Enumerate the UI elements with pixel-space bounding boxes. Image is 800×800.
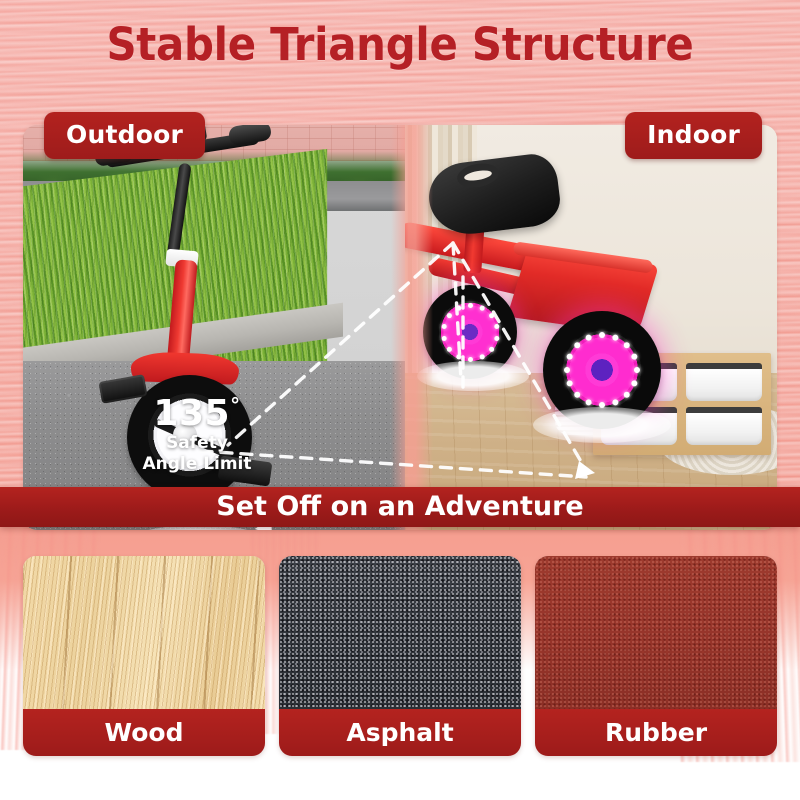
indoor-scene (405, 125, 777, 530)
tricycle-seat (425, 151, 563, 238)
surface-label: Wood (23, 709, 265, 756)
page-title: Stable Triangle Structure (28, 16, 772, 76)
tricycle-indoor (405, 125, 777, 530)
scene-divider (391, 125, 433, 530)
angle-subtitle-line2: Angle Limit (122, 454, 272, 475)
angle-subtitle-line1: Safety (122, 433, 272, 454)
surface-label: Asphalt (279, 709, 521, 756)
angle-value: 135° (122, 386, 272, 433)
angle-number: 135 (153, 393, 230, 434)
ground-contact-highlight-indoor-front (417, 361, 529, 391)
degree-symbol: ° (230, 393, 241, 417)
safety-angle-callout: 135° Safety Angle Limit (122, 386, 272, 475)
surface-card-list: Wood Asphalt Rubber (0, 556, 800, 761)
badge-outdoor: Outdoor (44, 112, 205, 159)
wood-texture (23, 556, 265, 709)
surface-label: Rubber (535, 709, 777, 756)
surface-card-rubber: Rubber (535, 556, 777, 756)
rubber-texture (535, 556, 777, 709)
badge-indoor: Indoor (625, 112, 762, 159)
surface-card-wood: Wood (23, 556, 265, 756)
ground-contact-highlight-indoor-rear (533, 407, 671, 443)
handlebar-stem (166, 163, 191, 260)
handlebar-grip-right (228, 125, 272, 146)
adventure-banner: Set Off on an Adventure (0, 487, 800, 527)
asphalt-texture (279, 556, 521, 709)
surface-card-asphalt: Asphalt (279, 556, 521, 756)
